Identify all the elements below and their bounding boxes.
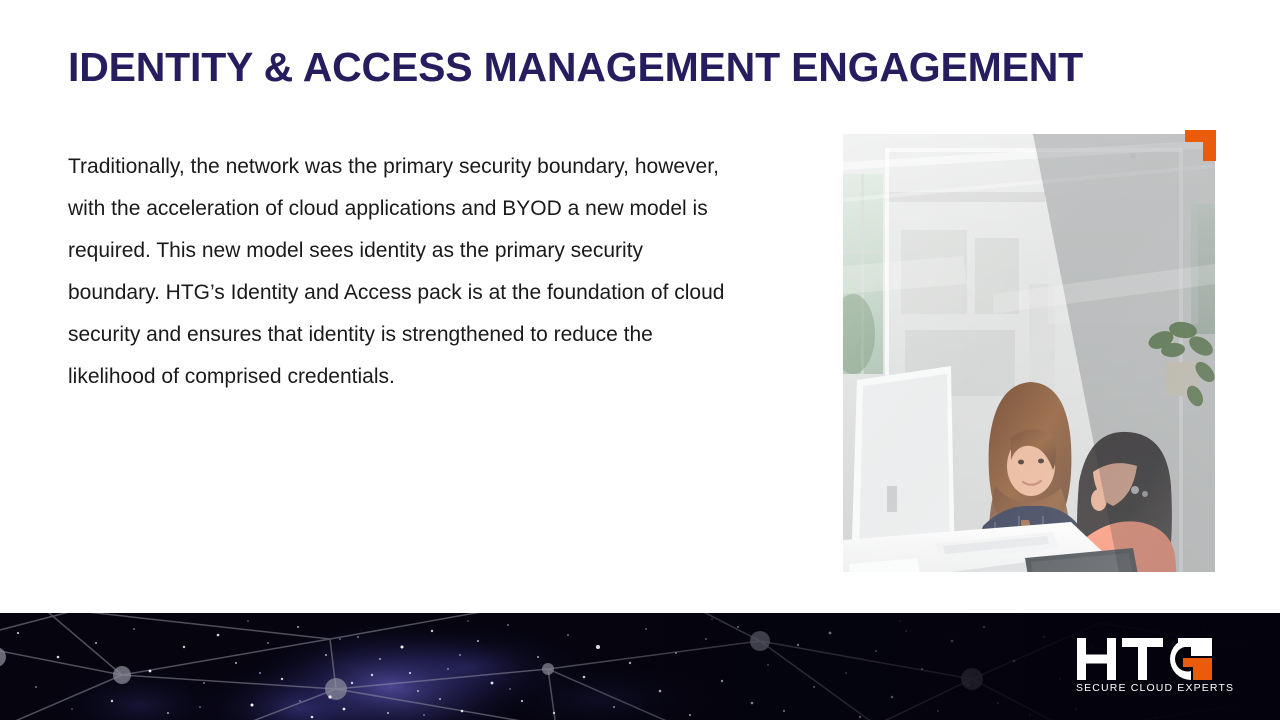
office-photo: [843, 134, 1215, 572]
orange-corner-accent: [1185, 130, 1216, 161]
htg-logo: SECURE CLOUD EXPERTS: [1075, 638, 1215, 700]
htg-wordmark-icon: [1075, 638, 1215, 680]
body-paragraph: Traditionally, the network was the prima…: [68, 146, 728, 398]
page-title: IDENTITY & ACCESS MANAGEMENT ENGAGEMENT: [68, 45, 1218, 91]
slide-canvas: IDENTITY & ACCESS MANAGEMENT ENGAGEMENT …: [0, 0, 1280, 720]
htg-tagline: SECURE CLOUD EXPERTS: [1076, 682, 1215, 694]
office-photo-illustration: [843, 134, 1215, 572]
orange-accent-right-bar: [1203, 130, 1216, 161]
